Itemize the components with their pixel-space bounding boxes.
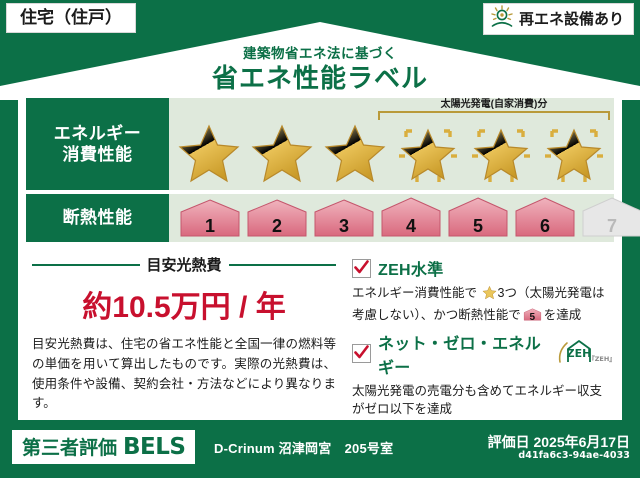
- insulation-level: 6: [512, 196, 578, 240]
- insulation-level: 2: [244, 196, 310, 240]
- insulation-level-number: 7: [579, 216, 640, 237]
- energy-row-value: 太陽光発電(自家消費)分: [169, 98, 614, 190]
- star-item: [322, 120, 388, 186]
- renewable-tag-label: 再エネ設備あり: [519, 12, 624, 27]
- net-zero-checkbox[interactable]: [352, 344, 371, 363]
- zeh-desc-pre: エネルギー消費性能で: [352, 286, 477, 300]
- mini-house-number: 5: [523, 310, 542, 325]
- label-panel: エネルギー 消費性能 太陽光発電(自家消費)分: [18, 90, 622, 420]
- house-type-tag: 住宅（住戸）: [6, 3, 136, 33]
- footer-band: 第三者評価 BELS D-Crinum 沼津岡宮 205号室 評価日 2025年…: [0, 424, 640, 478]
- energy-row-label: エネルギー 消費性能: [26, 98, 169, 190]
- solar-bracket-group: 太陽光発電(自家消費)分: [378, 99, 610, 120]
- cost-heading-row: 目安光熱費: [32, 254, 336, 275]
- insulation-level: 1: [177, 196, 243, 240]
- insulation-level-number: 6: [512, 216, 578, 237]
- evaluation-id: d41fa6c3-94ae-4033: [518, 450, 630, 461]
- renewable-equipment-tag: 再エネ設備あり: [483, 3, 634, 35]
- insulation-performance-row: 断熱性能 1: [26, 194, 614, 242]
- bels-badge: 第三者評価 BELS: [12, 430, 195, 464]
- energy-label-line2: 消費性能: [63, 145, 133, 164]
- zeh-standard-description: エネルギー消費性能で 3つ（太陽光発電は考慮しない）、かつ断熱性能で 5を達成: [352, 284, 612, 325]
- insulation-level-inactive: 7: [579, 196, 640, 240]
- insulation-level-number: 3: [311, 216, 377, 237]
- zeh-standard-title: ZEH水準: [378, 256, 444, 280]
- cost-heading-rule-right: [229, 264, 337, 266]
- evaluation-date: 評価日 2025年6月17日: [488, 432, 630, 452]
- zeh-column: ZEH水準 エネルギー消費性能で 3つ（太陽光発電は考慮しない）、かつ断熱性能で…: [346, 250, 614, 414]
- insulation-level-number: 5: [445, 216, 511, 237]
- cost-note: 目安光熱費は、住宅の省エネ性能と全国一律の燃料等の単価を用いて算出したものです。…: [32, 335, 336, 414]
- zeh-desc-post: を達成: [544, 308, 582, 322]
- star-rating: [173, 118, 610, 188]
- cost-heading: 目安光熱費: [147, 254, 222, 275]
- star-item-sparkle: [468, 120, 534, 186]
- header-band: 住宅（住戸） 再エネ: [0, 0, 640, 100]
- cost-heading-rule-left: [32, 264, 140, 266]
- bels-jp-label: 第三者評価: [22, 433, 117, 460]
- svg-text:『ZEH』: 『ZEH』: [588, 354, 612, 363]
- building-name: D-Crinum 沼津岡宮 205号室: [214, 438, 393, 457]
- mini-house-badge: 5: [523, 307, 542, 322]
- insulation-level-number: 4: [378, 216, 444, 237]
- utility-cost-column: 目安光熱費 約10.5万円 / 年 目安光熱費は、住宅の省エネ性能と全国一律の燃…: [26, 250, 346, 414]
- energy-label-root: 住宅（住戸） 再エネ: [0, 0, 640, 478]
- zeh-standard-block: ZEH水準 エネルギー消費性能で 3つ（太陽光発電は考慮しない）、かつ断熱性能で…: [352, 256, 612, 325]
- bels-en-label: BELS: [123, 434, 185, 460]
- net-zero-energy-block: ネット・ゼロ・エネルギー ZEH 『ZEH』 太陽光発電の売電分も含めてエネルギ…: [352, 330, 612, 420]
- star-item: [249, 120, 315, 186]
- star-item-sparkle: [541, 120, 607, 186]
- insulation-level: 4: [378, 196, 444, 240]
- lower-section: 目安光熱費 約10.5万円 / 年 目安光熱費は、住宅の省エネ性能と全国一律の燃…: [26, 250, 614, 414]
- energy-performance-row: エネルギー 消費性能 太陽光発電(自家消費)分: [26, 98, 614, 190]
- mini-star-icon: [478, 289, 496, 303]
- insulation-level-number: 2: [244, 216, 310, 237]
- energy-label-line1: エネルギー: [54, 124, 142, 143]
- zeh-logo-icon: ZEH 『ZEH』: [556, 338, 612, 369]
- solar-caption: 太陽光発電(自家消費)分: [378, 99, 610, 110]
- insulation-level: 3: [311, 196, 377, 240]
- insulation-row-value: 1 2 3: [169, 194, 614, 242]
- zeh-standard-checkbox[interactable]: [352, 259, 371, 278]
- insulation-level-scale: 1 2 3: [177, 194, 606, 242]
- zeh-standard-title-row: ZEH水準: [352, 256, 612, 280]
- net-zero-description: 太陽光発電の売電分も含めてエネルギー収支がゼロ以下を達成: [352, 382, 612, 420]
- insulation-level: 5: [445, 196, 511, 240]
- star-item: [176, 120, 242, 186]
- star-item-sparkle: [395, 120, 461, 186]
- insulation-level-number: 1: [177, 216, 243, 237]
- insulation-row-label: 断熱性能: [26, 194, 169, 242]
- net-zero-title: ネット・ゼロ・エネルギー: [378, 330, 546, 378]
- cost-amount: 約10.5万円 / 年: [32, 282, 336, 326]
- net-zero-title-row: ネット・ゼロ・エネルギー ZEH 『ZEH』: [352, 330, 612, 378]
- sun-horizon-icon: [489, 5, 515, 34]
